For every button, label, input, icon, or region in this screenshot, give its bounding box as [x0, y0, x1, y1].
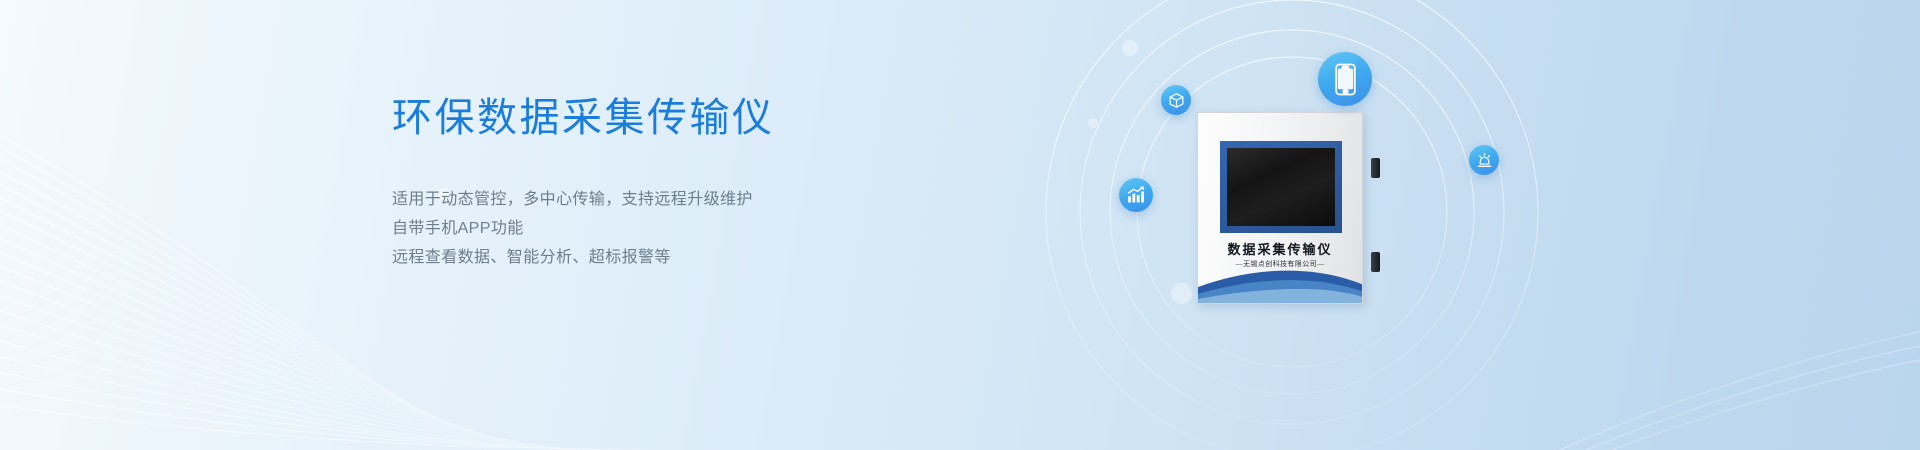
- banner-text-block: 环保数据采集传输仪 适用于动态管控，多中心传输，支持远程升级维护 自带手机APP…: [392, 96, 1032, 272]
- subtitle-line-3: 远程查看数据、智能分析、超标报警等: [392, 243, 1032, 272]
- device-hinge-top: [1371, 158, 1380, 178]
- device-cabinet: 数据采集传输仪 —无锡点创科技有限公司—: [1197, 112, 1363, 304]
- bubble-decoration: [1122, 40, 1138, 56]
- product-banner: 环保数据采集传输仪 适用于动态管控，多中心传输，支持远程升级维护 自带手机APP…: [0, 0, 1920, 450]
- phone-icon: [1318, 52, 1372, 106]
- chart-icon: [1119, 178, 1153, 212]
- cube-icon: [1161, 85, 1191, 115]
- device-wave-graphic: [1198, 257, 1363, 303]
- subtitle-line-2: 自带手机APP功能: [392, 214, 1032, 243]
- subtitle-line-1: 适用于动态管控，多中心传输，支持远程升级维护: [392, 185, 1032, 214]
- subtitle-list: 适用于动态管控，多中心传输，支持远程升级维护 自带手机APP功能 远程查看数据、…: [392, 185, 1032, 272]
- alarm-icon: [1469, 145, 1499, 175]
- device-screen: [1227, 148, 1335, 226]
- bubble-decoration: [1088, 118, 1098, 128]
- page-title: 环保数据采集传输仪: [392, 96, 1032, 141]
- device-hinge-bottom: [1371, 252, 1380, 272]
- device-panel-title: 数据采集传输仪: [1198, 239, 1362, 258]
- device-screen-bezel: [1220, 141, 1342, 233]
- product-device-image: 数据采集传输仪 —无锡点创科技有限公司—: [1185, 112, 1375, 312]
